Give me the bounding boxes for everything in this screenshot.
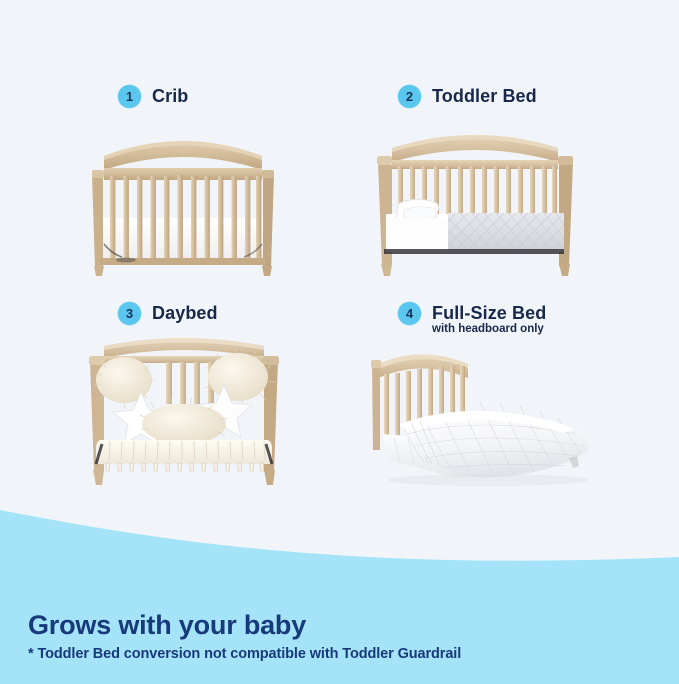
step-number-badge-3: 3 (118, 302, 141, 325)
daybed-illustration (78, 332, 290, 487)
step-label-1: 1 Crib (118, 85, 188, 108)
step-subtitle-4: with headboard only (432, 323, 546, 336)
step-number-badge-4: 4 (398, 302, 421, 325)
step-label-2: 2 Toddler Bed (398, 85, 537, 108)
step-panel-toddler-bed: 2 Toddler Bed (340, 0, 679, 280)
step-number-badge-2: 2 (398, 85, 421, 108)
banner-footnote: * Toddler Bed conversion not compatible … (28, 646, 461, 662)
step-panel-daybed: 3 Daybed (0, 280, 340, 505)
step-panel-full-size-bed: 4 Full-Size Bed with headboard only (340, 280, 679, 505)
step-panel-crib: 1 Crib (0, 0, 340, 280)
step-number-badge-1: 1 (118, 85, 141, 108)
step-title-2: Toddler Bed (432, 85, 537, 107)
toddler-bed-illustration (368, 118, 583, 278)
step-title-1: Crib (152, 85, 188, 107)
step-title-3: Daybed (152, 302, 218, 324)
step-label-4: 4 Full-Size Bed with headboard only (398, 302, 546, 336)
full-size-bed-illustration (360, 338, 605, 493)
step-label-3: 3 Daybed (118, 302, 218, 325)
step-title-4: Full-Size Bed (432, 302, 546, 324)
crib-illustration (78, 118, 288, 278)
conversion-chart: 1 Crib (0, 0, 679, 684)
banner-title: Grows with your baby (28, 610, 306, 641)
